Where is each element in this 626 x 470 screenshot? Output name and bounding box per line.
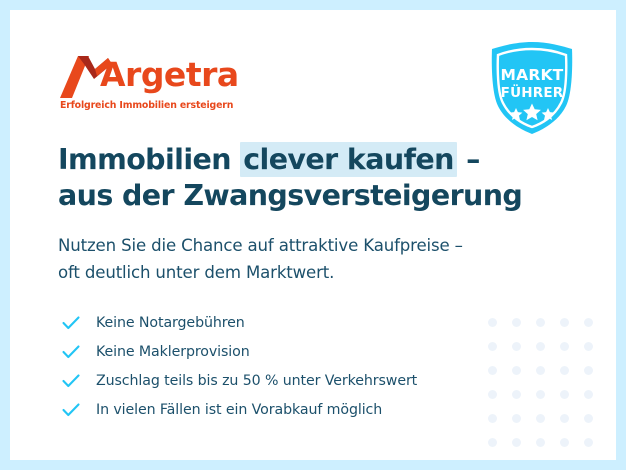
list-item: Keine Maklerprovision	[62, 337, 532, 366]
dot	[560, 390, 569, 399]
dot	[560, 366, 569, 375]
dot	[560, 342, 569, 351]
list-item: Zuschlag teils bis zu 50 % unter Verkehr…	[62, 366, 532, 395]
dot	[560, 414, 569, 423]
subheadline-line-1: Nutzen Sie die Chance auf attraktive Kau…	[58, 232, 558, 259]
headline-line-1: Immobilien clever kaufen –	[58, 142, 538, 178]
svg-text:MARKT: MARKT	[501, 66, 564, 84]
subheadline: Nutzen Sie die Chance auf attraktive Kau…	[58, 232, 558, 286]
headline-pre: Immobilien	[58, 143, 240, 176]
dot	[536, 414, 545, 423]
dot	[560, 438, 569, 447]
logo-tagline: Erfolgreich Immobilien ersteigern	[60, 100, 233, 111]
page-title: Immobilien clever kaufen – aus der Zwang…	[58, 142, 538, 214]
dot	[536, 390, 545, 399]
subheadline-line-2: oft deutlich unter dem Marktwert.	[58, 259, 558, 286]
dot	[584, 414, 593, 423]
check-icon	[62, 313, 88, 333]
list-item-label: Zuschlag teils bis zu 50 % unter Verkehr…	[88, 373, 417, 389]
list-item-label: In vielen Fällen ist ein Vorabkauf mögli…	[88, 402, 382, 418]
argetra-logo[interactable]: Argetra Erfolgreich Immobilien ersteiger…	[58, 48, 258, 100]
headline-line-2: aus der Zwangsversteigerung	[58, 178, 538, 214]
benefit-list: Keine Notargebühren Keine Maklerprovisio…	[62, 308, 532, 424]
logo-wordmark: Argetra	[100, 55, 239, 94]
list-item: Keine Notargebühren	[62, 308, 532, 337]
dot	[584, 342, 593, 351]
list-item-label: Keine Notargebühren	[88, 315, 245, 331]
dot	[488, 438, 497, 447]
headline-highlight: clever kaufen	[240, 142, 457, 177]
check-icon	[62, 342, 88, 362]
dot	[584, 390, 593, 399]
svg-text:FÜHRER: FÜHRER	[501, 83, 564, 101]
dot	[512, 438, 521, 447]
markt-fuehrer-shield-badge: MARKT FÜHRER	[486, 40, 578, 136]
dot	[584, 318, 593, 327]
dot	[536, 318, 545, 327]
dot	[560, 318, 569, 327]
ad-canvas: Argetra Erfolgreich Immobilien ersteiger…	[10, 10, 616, 460]
check-icon	[62, 371, 88, 391]
dot	[584, 366, 593, 375]
headline-post: –	[457, 143, 480, 176]
ad-frame-border: Argetra Erfolgreich Immobilien ersteiger…	[0, 0, 626, 470]
dot	[584, 438, 593, 447]
logo-row: Argetra	[58, 48, 258, 100]
list-item: In vielen Fällen ist ein Vorabkauf mögli…	[62, 395, 532, 424]
dot	[536, 366, 545, 375]
dot	[536, 342, 545, 351]
list-item-label: Keine Maklerprovision	[88, 344, 250, 360]
check-icon	[62, 400, 88, 420]
dot	[536, 438, 545, 447]
